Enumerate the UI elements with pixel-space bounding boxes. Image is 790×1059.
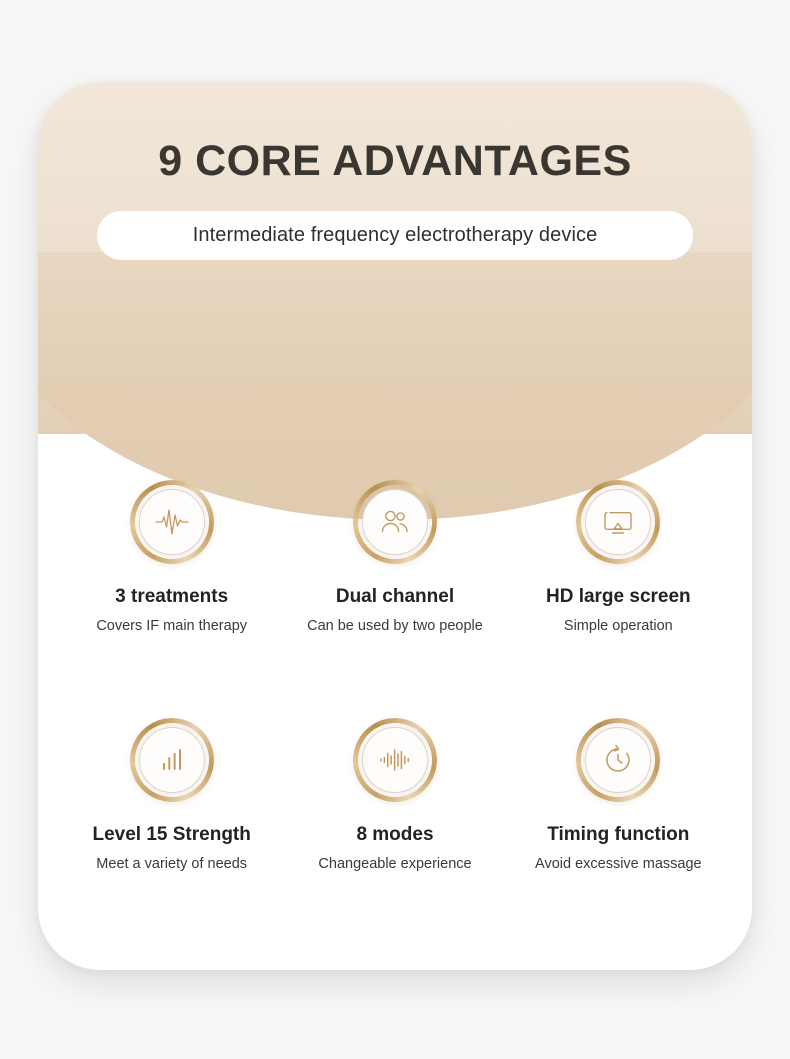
feature-desc: Meet a variety of needs: [96, 856, 247, 872]
feature-item-8-modes: 8 modes Changeable experience: [283, 718, 506, 872]
feature-item-dual-channel: Dual channel Can be used by two people: [283, 480, 506, 634]
feature-desc: Simple operation: [564, 618, 673, 634]
feature-title: Dual channel: [336, 586, 454, 608]
header-content: 9 CORE ADVANTAGES Intermediate frequency…: [38, 82, 752, 260]
icon-badge: [130, 480, 214, 564]
icon-badge: [576, 480, 660, 564]
feature-item-timing-function: Timing function Avoid excessive massage: [507, 718, 730, 872]
feature-item-level-15-strength: Level 15 Strength Meet a variety of need…: [60, 718, 283, 872]
feature-desc: Changeable experience: [318, 856, 471, 872]
feature-desc: Covers IF main therapy: [96, 618, 247, 634]
feature-desc: Avoid excessive massage: [535, 856, 702, 872]
feature-item-3-treatments: 3 treatments Covers IF main therapy: [60, 480, 283, 634]
timer-stopwatch-icon: [598, 740, 638, 780]
subtitle-text: Intermediate frequency electrotherapy de…: [193, 224, 598, 247]
feature-item-hd-screen: HD large screen Simple operation: [507, 480, 730, 634]
icon-badge: [353, 480, 437, 564]
icon-badge: [576, 718, 660, 802]
waveform-pulse-icon: [152, 502, 192, 542]
bar-levels-icon: [152, 740, 192, 780]
features-grid: 3 treatments Covers IF main therapy Dual…: [38, 480, 752, 872]
feature-title: 3 treatments: [115, 586, 228, 608]
icon-badge: [353, 718, 437, 802]
feature-desc: Can be used by two people: [307, 618, 483, 634]
icon-badge: [130, 718, 214, 802]
promo-card: 9 CORE ADVANTAGES Intermediate frequency…: [38, 82, 752, 970]
page-title: 9 CORE ADVANTAGES: [38, 140, 752, 183]
feature-title: Timing function: [547, 824, 689, 846]
equalizer-wave-icon: [375, 740, 415, 780]
subtitle-pill: Intermediate frequency electrotherapy de…: [97, 211, 693, 260]
monitor-screen-icon: [598, 502, 638, 542]
two-people-icon: [375, 502, 415, 542]
feature-title: 8 modes: [356, 824, 433, 846]
feature-title: HD large screen: [546, 586, 691, 608]
feature-title: Level 15 Strength: [92, 824, 250, 846]
